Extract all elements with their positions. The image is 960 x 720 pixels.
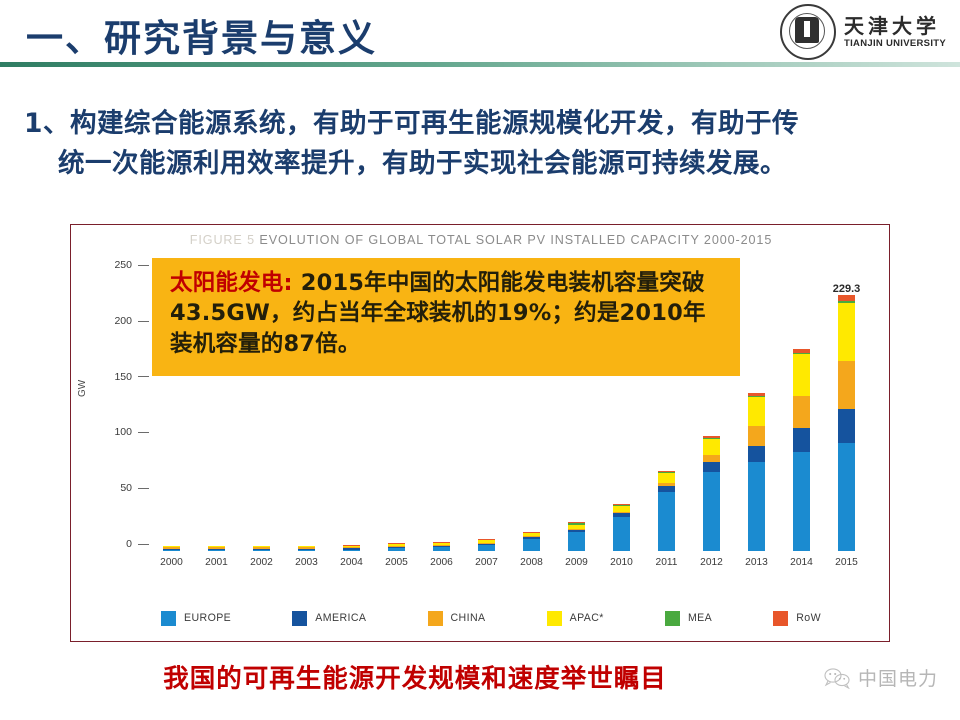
stacked-bar [658,471,675,551]
watermark-label: 中国电力 [858,664,938,691]
stacked-bar [523,532,540,551]
footer-headline: 我国的可再生能源开发规模和速度举世瞩目 [0,658,960,695]
legend-item-mea: MEA [665,611,712,626]
y-axis-tick: 200 [114,315,149,327]
chart-title: FIGURE 5 EVOLUTION OF GLOBAL TOTAL SOLAR… [71,233,891,247]
page-title: 一、研究背景与意义 [26,8,377,62]
y-axis-tick: 50 [120,482,149,494]
legend-swatch [773,611,788,626]
stacked-bar [478,539,495,551]
legend-item-row: RoW [773,611,821,626]
bar-segment-apac [748,397,765,425]
bar-segment-europe [838,443,855,551]
stacked-bar [388,543,405,551]
bar-segment-europe [343,550,360,551]
x-axis-tick: 2010 [599,557,644,577]
stacked-bar [433,542,450,551]
x-axis-tick: 2001 [194,557,239,577]
x-axis-tick: 2009 [554,557,599,577]
bar-segment-europe [523,539,540,551]
bar-value-label: 229.3 [833,283,861,295]
bar-segment-america [748,446,765,462]
y-axis-tick: 150 [114,371,149,383]
x-axis-tick: 2012 [689,557,734,577]
bar-segment-apac [793,354,810,396]
legend-item-america: AMERICA [292,611,366,626]
bar-column [779,261,824,551]
slide-footer: 我国的可再生能源开发规模和速度举世瞩目 中国电力 [0,656,960,702]
legend-swatch [161,611,176,626]
legend-item-china: CHINA [428,611,486,626]
x-axis-tick: 2015 [824,557,869,577]
logo-name-cn: 天津大学 [844,16,946,36]
legend-item-apac: APAC* [547,611,604,626]
x-axis-tick: 2005 [374,557,419,577]
legend-item-europe: EUROPE [161,611,231,626]
y-axis-ticks: 050100150200250 [71,255,149,551]
y-axis-tick: 0 [126,538,149,550]
wechat-logo-icon [823,667,851,689]
stacked-bar [343,545,360,551]
bar-segment-europe [208,550,225,551]
x-axis-tick: 2007 [464,557,509,577]
bar-segment-europe [163,550,180,551]
stacked-bar [838,295,855,551]
bar-segment-europe [478,545,495,551]
bar-segment-america [793,428,810,452]
bar-segment-china [793,396,810,427]
bar-segment-apac [658,473,675,482]
bar-segment-apac [703,439,720,455]
tianjin-university-seal-icon [780,4,836,60]
stacked-bar [748,393,765,551]
bar-segment-apac [838,303,855,361]
legend-label: EUROPE [184,612,231,624]
stacked-bar [253,546,270,551]
bar-segment-europe [568,532,585,551]
bar-segment-europe [703,472,720,551]
body-paragraph: 1、构建综合能源系统，有助于可再生能源规模化开发，有助于传 统一次能源利用效率提… [24,104,942,185]
callout-highlight: 太阳能发电: [170,270,293,296]
x-axis-tick: 2011 [644,557,689,577]
y-axis-tick: 100 [114,426,149,438]
slide-header: 一、研究背景与意义 天津大学 TIANJIN UNIVERSITY [0,0,960,68]
bar-segment-europe [658,492,675,551]
x-axis-tick: 2004 [329,557,374,577]
x-axis-tick: 2006 [419,557,464,577]
x-axis-tick: 2013 [734,557,779,577]
bar-segment-europe [298,550,315,551]
legend-swatch [665,611,680,626]
chart-title-main: EVOLUTION OF GLOBAL TOTAL SOLAR PV INSTA… [255,233,772,247]
x-axis-ticks: 2000200120022003200420052006200720082009… [149,557,869,577]
bar-segment-europe [793,452,810,551]
university-logo: 天津大学 TIANJIN UNIVERSITY [780,4,946,60]
bar-segment-europe [748,462,765,551]
y-axis-tick: 250 [114,259,149,271]
bar-segment-china [748,426,765,446]
bar-segment-china [838,361,855,410]
bar-segment-europe [433,547,450,551]
bar-column: 229.3 [824,261,869,551]
x-axis-tick: 2000 [149,557,194,577]
stacked-bar [703,436,720,551]
legend-label: APAC* [570,612,604,624]
stacked-bar [568,522,585,551]
solar-callout-box: 太阳能发电: 2015年中国的太阳能发电装机容量突破43.5GW，约占当年全球装… [152,258,740,376]
stacked-bar [163,546,180,551]
legend-swatch [547,611,562,626]
x-axis-tick: 2008 [509,557,554,577]
x-axis-tick: 2002 [239,557,284,577]
legend-swatch [292,611,307,626]
x-axis-tick: 2003 [284,557,329,577]
stacked-bar [613,504,630,551]
legend-label: MEA [688,612,712,624]
logo-name-en: TIANJIN UNIVERSITY [844,39,946,49]
stacked-bar [298,546,315,551]
legend-swatch [428,611,443,626]
x-axis-tick: 2014 [779,557,824,577]
legend-label: RoW [796,612,821,624]
bar-segment-america [838,409,855,442]
chart-title-figure-number: FIGURE 5 [190,233,255,247]
body-line-2: 统一次能源利用效率提升，有助于实现社会能源可持续发展。 [24,144,942,184]
bar-segment-europe [253,550,270,551]
bar-segment-europe [613,517,630,551]
legend-label: AMERICA [315,612,366,624]
legend-label: CHINA [451,612,486,624]
bar-segment-america [703,462,720,472]
source-watermark: 中国电力 [823,664,938,691]
stacked-bar [793,349,810,551]
header-divider [0,62,960,67]
bar-column [734,261,779,551]
stacked-bar [208,546,225,551]
bar-segment-europe [388,548,405,551]
chart-legend: EUROPEAMERICACHINAAPAC*MEARoW [111,605,871,631]
body-line-1: 1、构建综合能源系统，有助于可再生能源规模化开发，有助于传 [24,108,799,139]
bar-segment-china [703,455,720,463]
